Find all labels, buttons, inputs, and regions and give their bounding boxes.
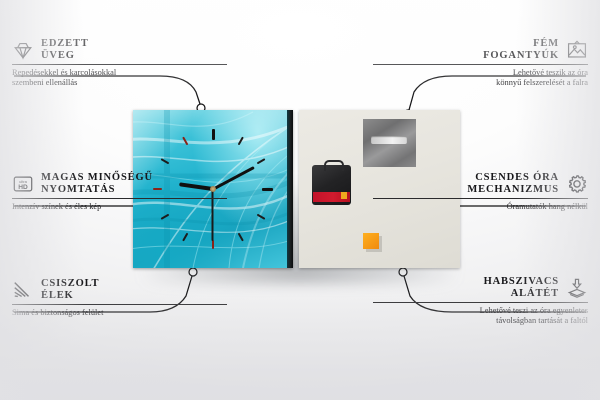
callout-divider bbox=[12, 64, 227, 65]
callout-high-quality-print: ultra HD MAGAS MINŐSÉGŰ NYOMTATÁS Intenz… bbox=[12, 172, 227, 212]
callout-tempered-glass: EDZETT ÜVEG Repedésekkel és karcolásokka… bbox=[12, 38, 227, 88]
callout-header: CSISZOLT ÉLEK bbox=[12, 278, 227, 301]
callout-title: HABSZIVACS ALÁTÉT bbox=[484, 276, 559, 299]
callout-divider bbox=[373, 198, 588, 199]
callout-description: Sima és biztonságos felület bbox=[12, 308, 227, 318]
press-layers-icon bbox=[566, 277, 588, 299]
callout-divider bbox=[12, 304, 227, 305]
callout-divider bbox=[373, 302, 588, 303]
glass-edge bbox=[287, 110, 293, 268]
mechanism-loop bbox=[324, 160, 344, 171]
callout-description: Repedésekkel és karcolásokkal szembeni e… bbox=[12, 68, 227, 88]
mechanism-label-dot bbox=[341, 192, 347, 199]
callout-header: CSENDES ÓRA MECHANIZMUS bbox=[373, 172, 588, 195]
ultra-hd-badge-icon: ultra HD bbox=[12, 173, 34, 195]
callout-title: MAGAS MINŐSÉGŰ NYOMTATÁS bbox=[41, 172, 153, 195]
callout-title: CSENDES ÓRA MECHANIZMUS bbox=[467, 172, 559, 195]
callout-header: EDZETT ÜVEG bbox=[12, 38, 227, 61]
mechanism-red-label bbox=[313, 192, 350, 202]
diamond-icon bbox=[12, 39, 34, 61]
callout-foam-pad: HABSZIVACS ALÁTÉT Lehetővé teszi az óra … bbox=[373, 276, 588, 326]
gear-icon bbox=[566, 173, 588, 195]
clock-mechanism-box bbox=[312, 165, 351, 205]
callout-title: EDZETT ÜVEG bbox=[41, 38, 89, 61]
callout-silent-mechanism: CSENDES ÓRA MECHANIZMUS Óramutatók hang … bbox=[373, 172, 588, 212]
diagonal-lines-icon bbox=[12, 279, 34, 301]
callout-title: CSISZOLT ÉLEK bbox=[41, 278, 99, 301]
metal-hanger-plate bbox=[363, 119, 416, 167]
callout-description: Lehetővé teszik az óra könnyű felszerelé… bbox=[373, 68, 588, 88]
callout-polished-edges: CSISZOLT ÉLEK Sima és biztonságos felüle… bbox=[12, 278, 227, 318]
callout-header: ultra HD MAGAS MINŐSÉGŰ NYOMTATÁS bbox=[12, 172, 227, 195]
svg-text:HD: HD bbox=[18, 183, 28, 190]
callout-title: FÉM FOGANTYÚK bbox=[483, 38, 559, 61]
callout-description: Lehetővé teszi az óra egyenletes távolsá… bbox=[373, 306, 588, 326]
hanger-slot bbox=[371, 136, 407, 144]
infographic-canvas: EDZETT ÜVEG Repedésekkel és karcolásokka… bbox=[0, 0, 600, 400]
callout-header: HABSZIVACS ALÁTÉT bbox=[373, 276, 588, 299]
callout-description: Óramutatók hang nélkül bbox=[373, 202, 588, 212]
callout-divider bbox=[12, 198, 227, 199]
foam-pad-sample bbox=[363, 233, 379, 249]
picture-hanger-icon bbox=[566, 39, 588, 61]
callout-divider bbox=[373, 64, 588, 65]
callout-metal-handles: FÉM FOGANTYÚK Lehetővé teszik az óra kön… bbox=[373, 38, 588, 88]
callout-header: FÉM FOGANTYÚK bbox=[373, 38, 588, 61]
callout-description: Intenzív színek és éles kép bbox=[12, 202, 227, 212]
